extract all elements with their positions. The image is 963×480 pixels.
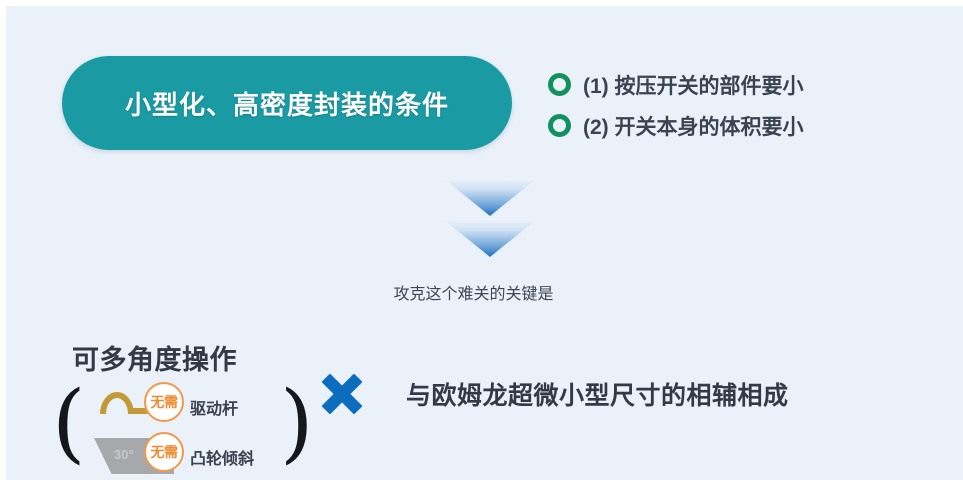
ring-icon <box>548 73 571 96</box>
condition-2-label: (2) 开关本身的体积要小 <box>583 111 804 141</box>
no-need-badge: 无需 <box>144 382 184 422</box>
multiply-icon <box>320 372 364 416</box>
right-headline: 与欧姆龙超微小型尺寸的相辅相成 <box>406 376 789 412</box>
feature-drive-lever: 无需 驱动杆 <box>82 382 282 426</box>
arrow-down-icon <box>443 178 537 216</box>
multi-angle-group: 可多角度操作 ( ) 无需 驱动杆 30° 无需 凸轮倾斜 <box>52 338 312 480</box>
paren-right: ) <box>280 380 314 466</box>
wedge-angle-label: 30° <box>114 447 134 462</box>
slide-canvas: 小型化、高密度封装的条件 (1) 按压开关的部件要小 (2) 开关本身的体积要小… <box>6 6 963 480</box>
multi-angle-title: 可多角度操作 <box>72 338 237 377</box>
paren-left: ( <box>52 380 86 466</box>
condition-pill: 小型化、高密度封装的条件 <box>62 56 512 150</box>
cam-lobe-hump <box>100 392 134 414</box>
ring-icon <box>548 114 571 137</box>
condition-1-label: (1) 按压开关的部件要小 <box>583 70 804 100</box>
list-item: (1) 按压开关的部件要小 <box>548 64 948 105</box>
feature-1-label: 驱动杆 <box>190 395 238 419</box>
arrow-down-icon <box>443 219 537 257</box>
feature-2-label: 凸轮倾斜 <box>190 445 254 469</box>
middle-caption: 攻克这个难关的关键是 <box>6 280 963 304</box>
slide-root: 小型化、高密度封装的条件 (1) 按压开关的部件要小 (2) 开关本身的体积要小… <box>0 0 963 480</box>
list-item: (2) 开关本身的体积要小 <box>548 105 948 146</box>
condition-pill-label: 小型化、高密度封装的条件 <box>125 85 449 122</box>
feature-cam-tilt: 30° 无需 凸轮倾斜 <box>82 430 282 480</box>
no-need-badge: 无需 <box>144 432 184 472</box>
conditions-list: (1) 按压开关的部件要小 (2) 开关本身的体积要小 <box>548 64 948 146</box>
middle-caption-text: 攻克这个难关的关键是 <box>393 280 553 304</box>
